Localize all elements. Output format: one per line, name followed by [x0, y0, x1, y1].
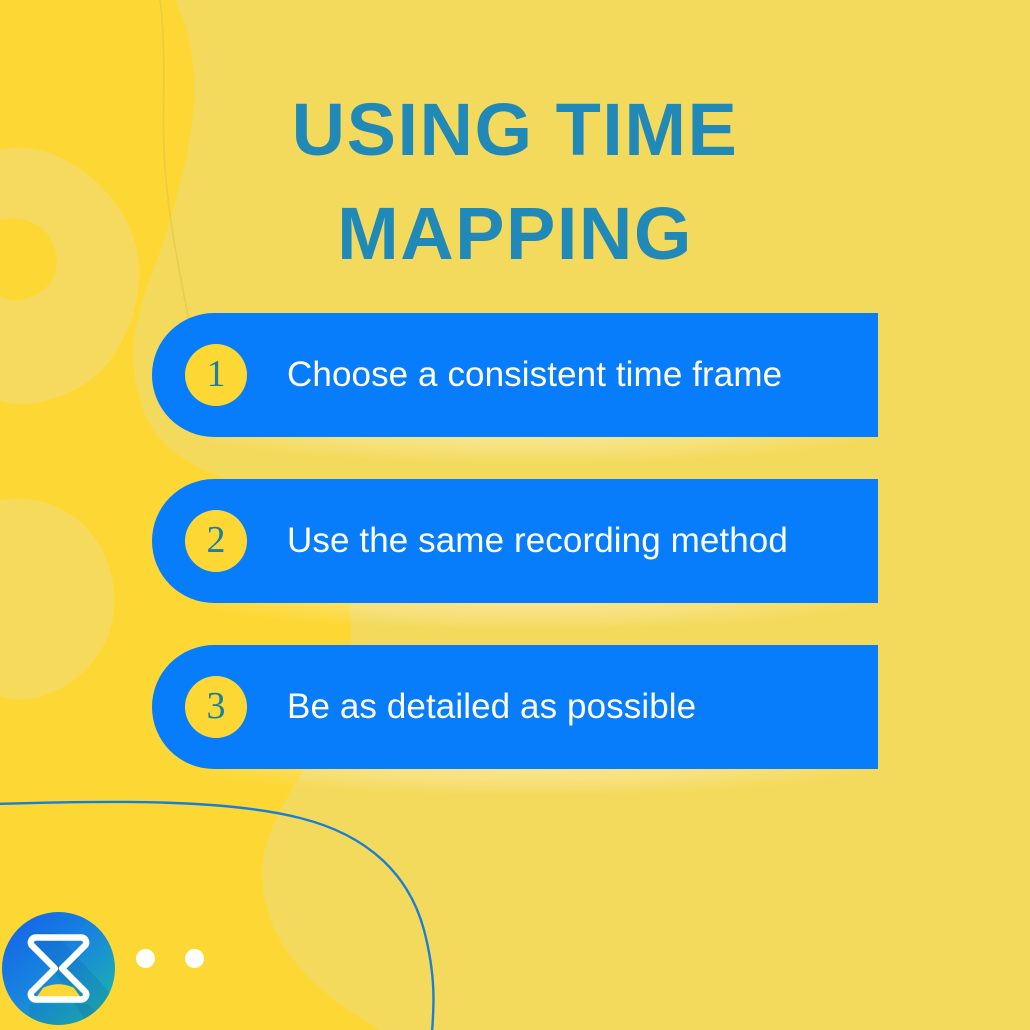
page-title-line-1: USING TIME — [0, 78, 1030, 182]
page-title-line-2: MAPPING — [0, 182, 1030, 286]
step-label-1: Choose a consistent time frame — [287, 355, 782, 395]
step-card-1[interactable]: 1 Choose a consistent time frame — [152, 313, 878, 437]
step-card-3[interactable]: 3 Be as detailed as possible — [152, 645, 878, 769]
step-number-badge-2: 2 — [185, 510, 247, 572]
logo-dot-2 — [185, 949, 204, 968]
step-label-2: Use the same recording method — [287, 521, 788, 561]
step-label-3: Be as detailed as possible — [287, 687, 696, 727]
page-title: USING TIME MAPPING — [0, 78, 1030, 286]
step-number-badge-3: 3 — [185, 676, 247, 738]
logo-dots — [136, 948, 216, 968]
step-number-badge-1: 1 — [185, 344, 247, 406]
logo-dot-1 — [136, 949, 155, 968]
poster-canvas: USING TIME MAPPING 1 Choose a consistent… — [0, 0, 1030, 1030]
background-blob-lower-left — [0, 499, 114, 700]
steps-list: 1 Choose a consistent time frame 2 Use t… — [152, 313, 878, 811]
hourglass-logo[interactable] — [2, 912, 115, 1025]
step-card-2[interactable]: 2 Use the same recording method — [152, 479, 878, 603]
